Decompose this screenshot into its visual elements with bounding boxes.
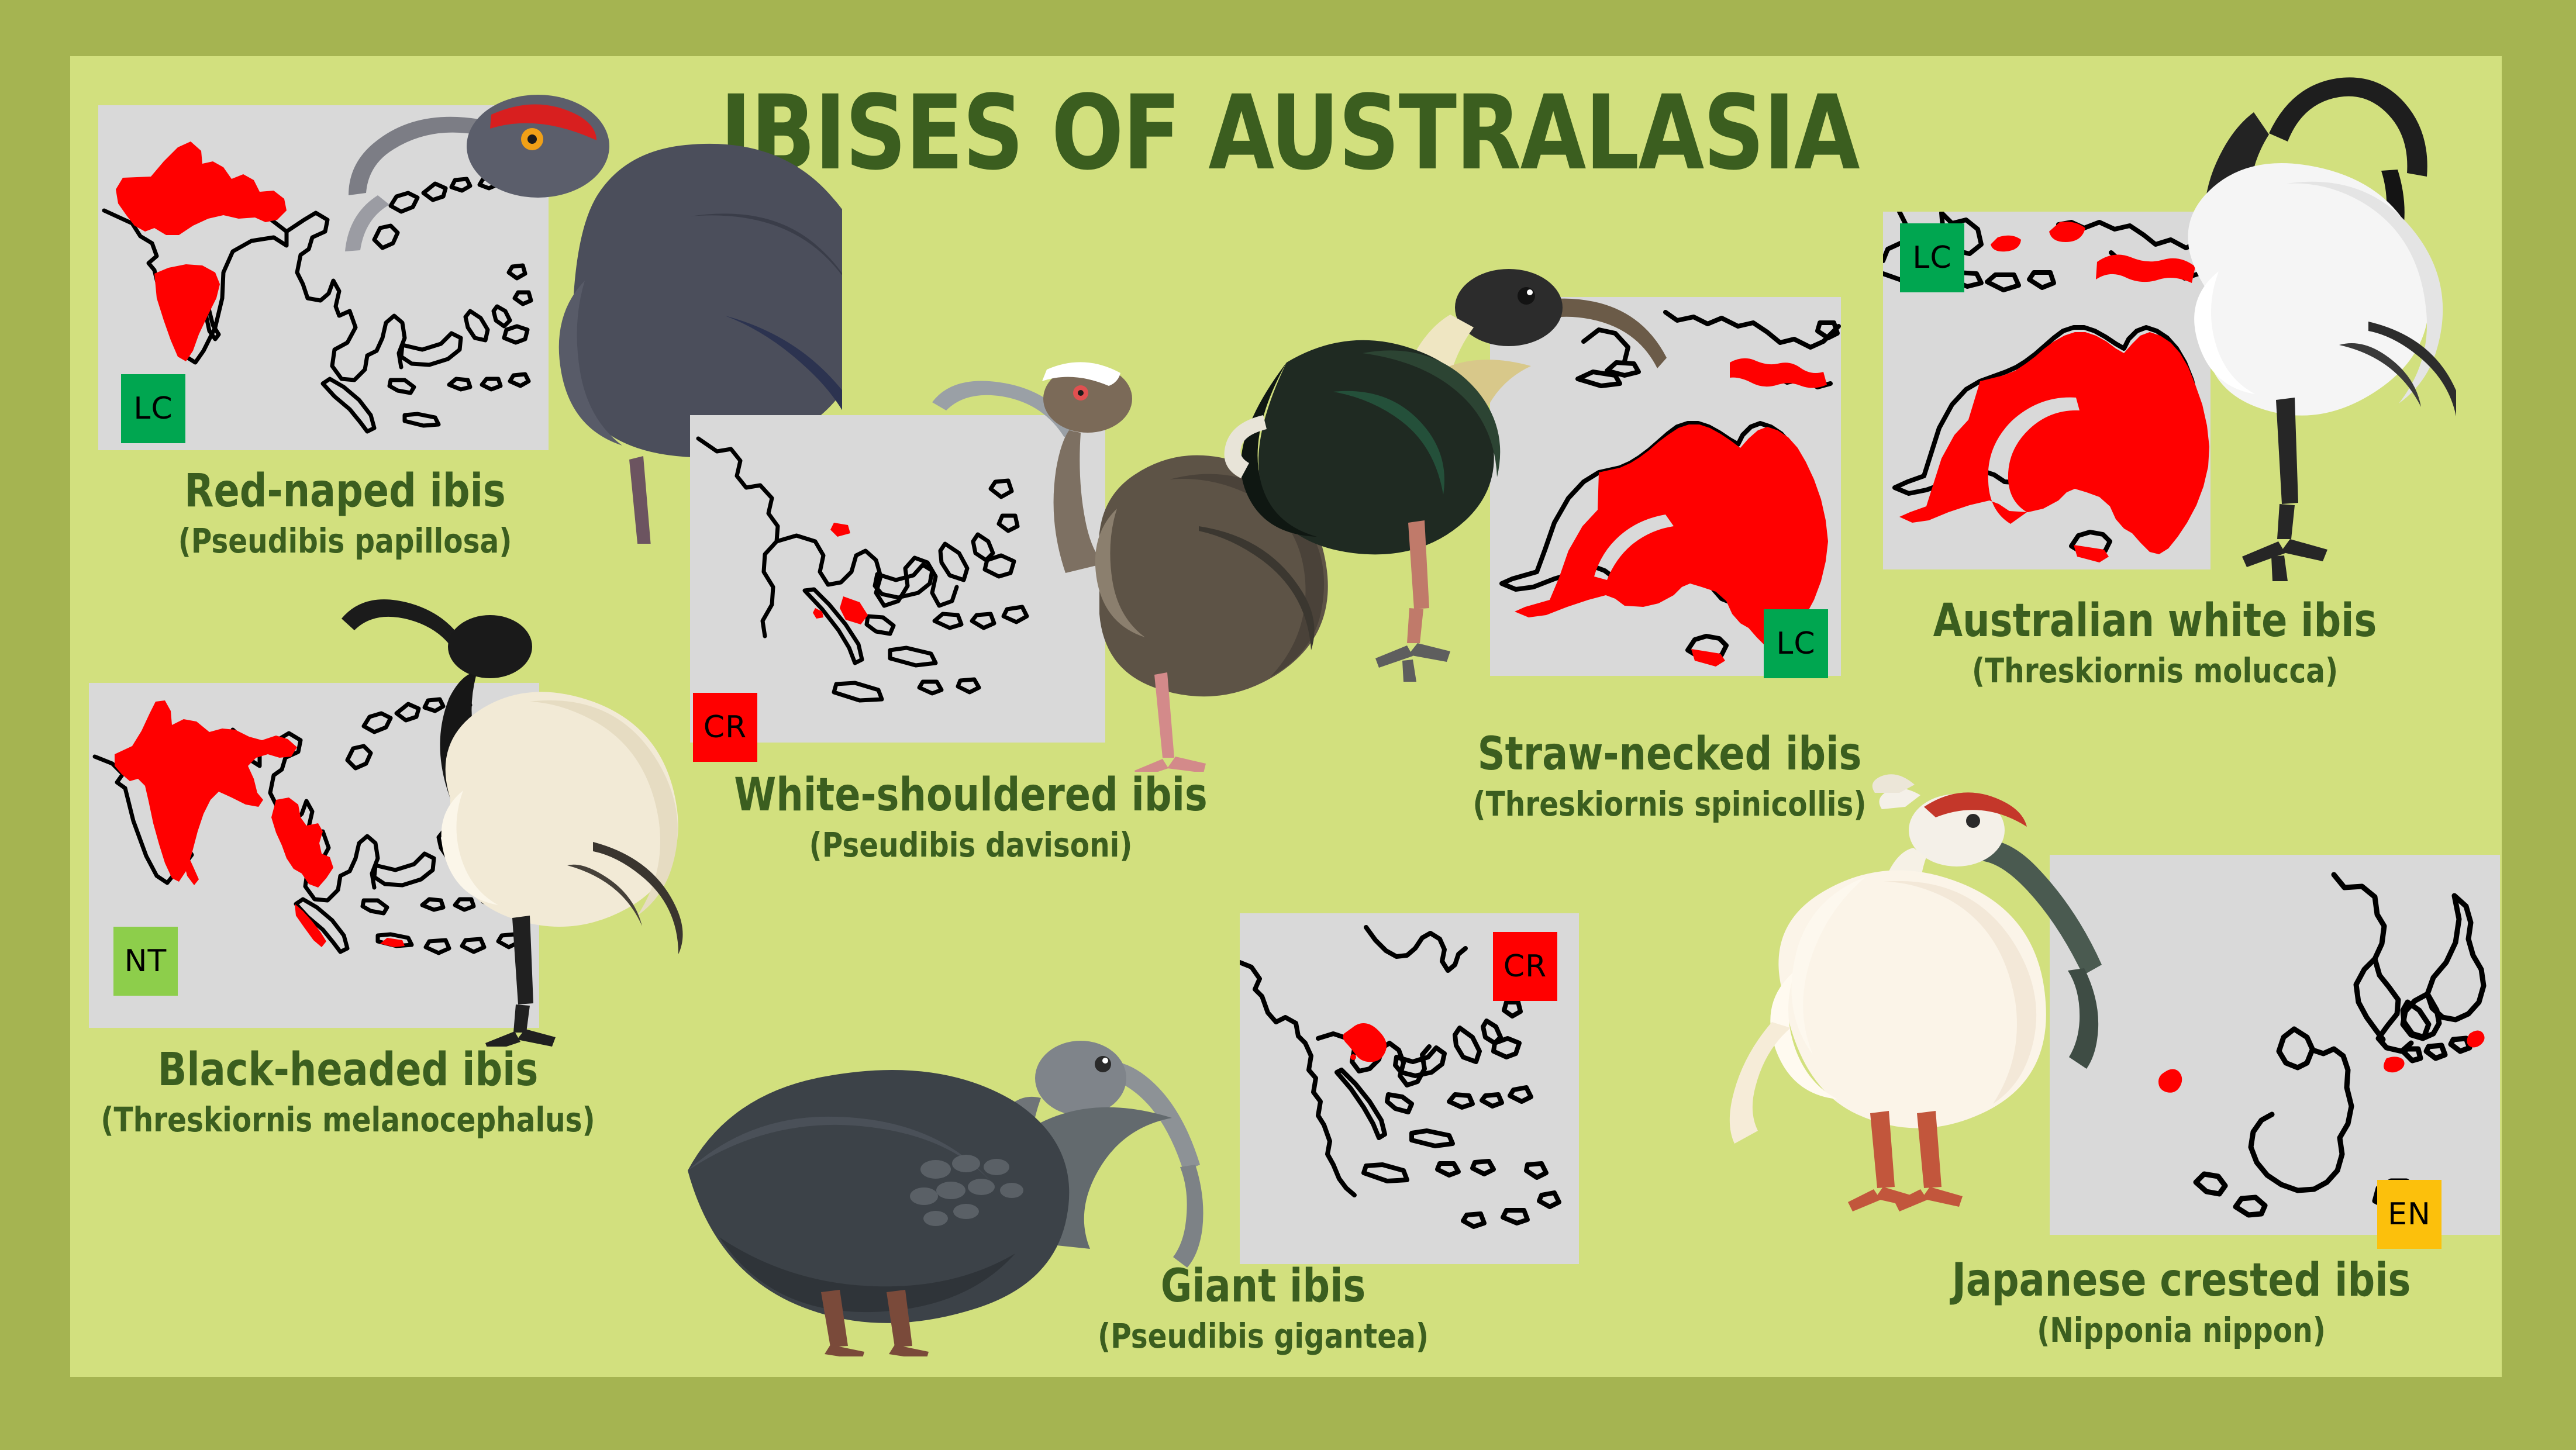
- status-badge-straw-necked-ibis: LC: [1764, 609, 1828, 678]
- species-common-name: Giant ibis: [1013, 1263, 1513, 1311]
- status-badge-japanese-crested-ibis: EN: [2377, 1180, 2441, 1249]
- species-common-name: Red-naped ibis: [57, 468, 633, 516]
- species-scientific-name: (Pseudibis gigantea): [1013, 1317, 1513, 1356]
- status-badge-label: LC: [1776, 629, 1815, 659]
- species-label-giant-ibis: Giant ibis (Pseudibis gigantea): [994, 1263, 1532, 1356]
- bird-image-japanese-crested-ibis: [1690, 760, 2123, 1269]
- species-label-black-headed-ibis: Black-headed ibis (Threskiornis melanoce…: [23, 1047, 673, 1140]
- status-badge-label: CR: [1503, 951, 1547, 982]
- status-badge-red-naped-ibis: LC: [121, 374, 185, 443]
- species-label-australian-white-ibis: Australian white ibis (Threskiornis molu…: [1860, 598, 2450, 691]
- species-label-red-naped-ibis: Red-naped ibis (Pseudibis papillosa): [35, 468, 655, 561]
- species-common-name: Australian white ibis: [1880, 598, 2429, 645]
- status-badge-australian-white-ibis: LC: [1900, 223, 1964, 292]
- status-badge-label: NT: [125, 946, 167, 976]
- status-badge-black-headed-ibis: NT: [113, 927, 178, 996]
- bird-image-australian-white-ibis: [2094, 64, 2456, 591]
- species-label-japanese-crested-ibis: Japanese crested ibis (Nipponia nippon): [1871, 1257, 2491, 1350]
- bird-image-black-headed-ibis: [333, 591, 778, 1047]
- species-scientific-name: (Nipponia nippon): [1893, 1311, 2470, 1350]
- species-common-name: Black-headed ibis: [46, 1047, 650, 1095]
- status-badge-giant-ibis: CR: [1493, 932, 1557, 1001]
- status-badge-label: LC: [1912, 243, 1951, 273]
- species-scientific-name: (Threskiornis molucca): [1880, 651, 2429, 691]
- page-title: IBISES OF AUSTRALASIA: [684, 82, 1895, 185]
- status-badge-label: EN: [2388, 1199, 2431, 1230]
- species-common-name: Japanese crested ibis: [1893, 1257, 2470, 1305]
- species-scientific-name: (Threskiornis melanocephalus): [46, 1100, 650, 1140]
- species-scientific-name: (Pseudibis papillosa): [57, 522, 633, 561]
- poster-root: IBISES OF AUSTRALASIA: [0, 0, 2576, 1450]
- status-badge-label: LC: [133, 393, 173, 424]
- bird-image-straw-necked-ibis: [1216, 257, 1684, 707]
